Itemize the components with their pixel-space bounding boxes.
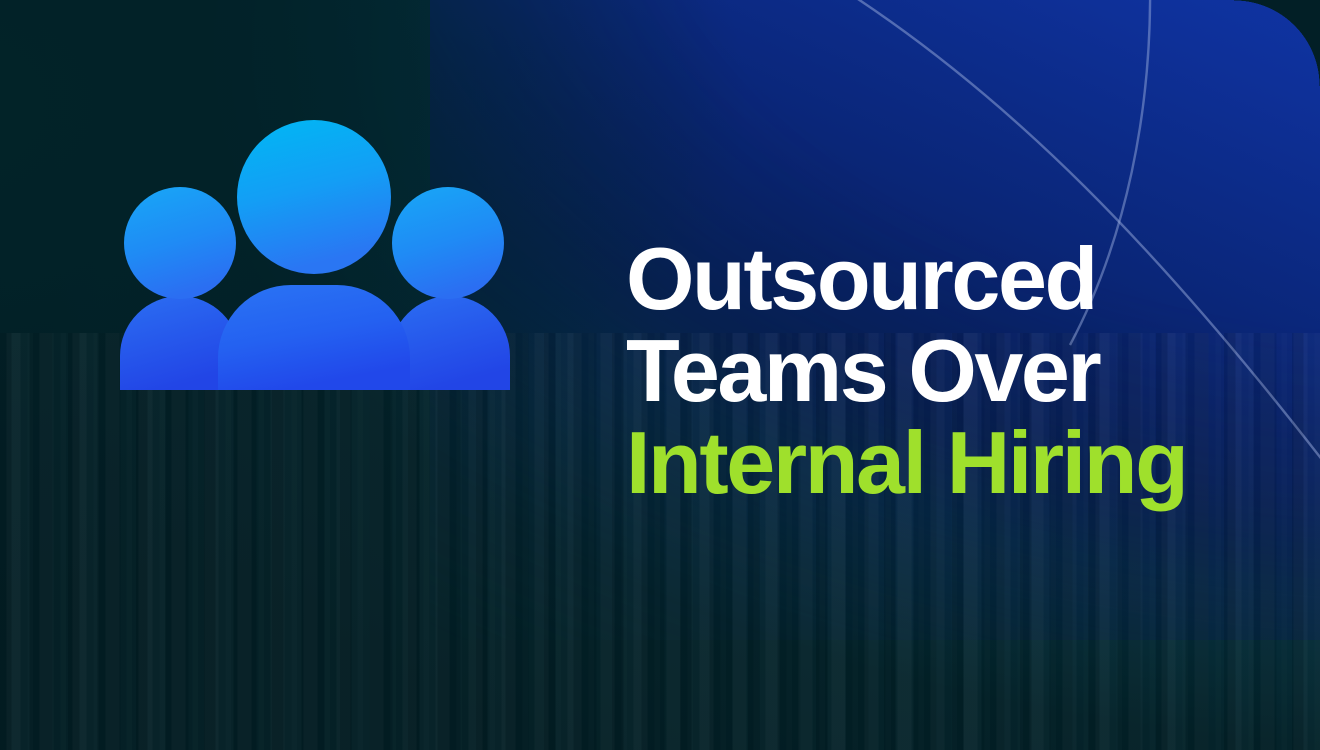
headline: Outsourced Teams Over Internal Hiring	[626, 233, 1266, 509]
headline-line-2: Teams Over	[626, 325, 1266, 417]
person-left-head	[124, 187, 236, 299]
headline-line-1: Outsourced	[626, 233, 1266, 325]
headline-line-3: Internal Hiring	[626, 417, 1266, 509]
person-center-body	[218, 285, 410, 390]
person-right-head	[392, 187, 504, 299]
promo-banner: Outsourced Teams Over Internal Hiring	[0, 0, 1320, 750]
top-right-corner-cut	[1234, 0, 1320, 86]
person-center-head	[237, 120, 391, 274]
people-team-icon	[110, 110, 520, 390]
